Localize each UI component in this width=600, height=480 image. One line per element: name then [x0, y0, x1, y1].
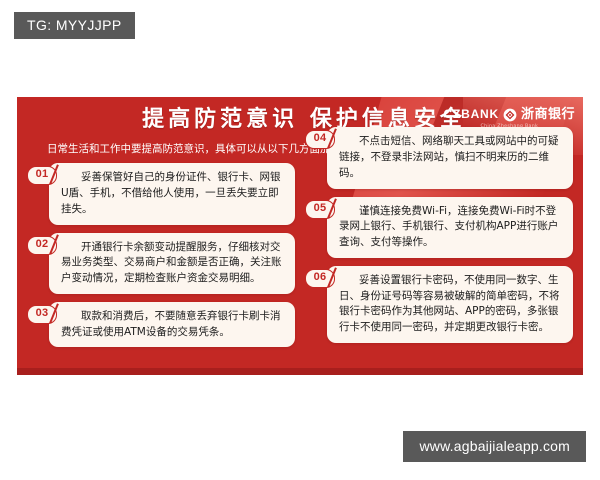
tip-item: 01 妥善保管好自己的身份证件、银行卡、网银U盾、手机，不借给他人使用，一旦丢失…: [27, 163, 295, 224]
tips-column-right: 04 不点击短信、网络聊天工具或网站中的可疑链接，不登录非法网站，慎扫不明来历的…: [305, 127, 573, 347]
bank-name-subtitle: China Zheshang Bank: [480, 124, 538, 129]
telegram-watermark-tag: TG: MYYJJPP: [14, 12, 135, 39]
tip-item: 06 妥善设置银行卡密码，不使用同一数字、生日、身份证号码等容易被破解的简单密码…: [305, 266, 573, 343]
tip-text: 谨慎连接免费Wi-Fi，连接免费Wi-Fi时不登录网上银行、手机银行、支付机构A…: [327, 197, 573, 258]
security-awareness-poster: 提高防范意识 保护信息安全 CZBANK 浙商银行 China Zheshang…: [17, 97, 583, 375]
bank-emblem-icon: [503, 107, 517, 121]
bank-logo: CZBANK 浙商银行 China Zheshang Bank: [444, 107, 575, 129]
tip-text: 开通银行卡余额变动提醒服务，仔细核对交易业务类型、交易商户和金额是否正确，关注账…: [49, 233, 295, 294]
bank-name-english: CZBANK: [444, 108, 499, 120]
tips-column-left: 01 妥善保管好自己的身份证件、银行卡、网银U盾、手机，不借给他人使用，一旦丢失…: [27, 163, 295, 347]
tip-text: 妥善保管好自己的身份证件、银行卡、网银U盾、手机，不借给他人使用，一旦丢失要立即…: [49, 163, 295, 224]
tip-text: 取款和消费后，不要随意丢弃银行卡刷卡消费凭证或使用ATM设备的交易凭条。: [49, 302, 295, 348]
tip-item: 04 不点击短信、网络聊天工具或网站中的可疑链接，不登录非法网站，慎扫不明来历的…: [305, 127, 573, 188]
bank-logo-main: CZBANK 浙商银行: [444, 107, 575, 121]
tips-columns: 01 妥善保管好自己的身份证件、银行卡、网银U盾、手机，不借给他人使用，一旦丢失…: [17, 157, 583, 347]
tip-item: 03 取款和消费后，不要随意丢弃银行卡刷卡消费凭证或使用ATM设备的交易凭条。: [27, 302, 295, 348]
site-watermark-tag: www.agbaijialeapp.com: [403, 431, 586, 462]
tip-item: 05 谨慎连接免费Wi-Fi，连接免费Wi-Fi时不登录网上银行、手机银行、支付…: [305, 197, 573, 258]
tip-text: 不点击短信、网络聊天工具或网站中的可疑链接，不登录非法网站，慎扫不明来历的二维码…: [327, 127, 573, 188]
poster-bottom-band: [17, 368, 583, 375]
bank-name-chinese: 浙商银行: [521, 108, 575, 121]
tip-item: 02 开通银行卡余额变动提醒服务，仔细核对交易业务类型、交易商户和金额是否正确，…: [27, 233, 295, 294]
tip-text: 妥善设置银行卡密码，不使用同一数字、生日、身份证号码等容易被破解的简单密码，不将…: [327, 266, 573, 343]
